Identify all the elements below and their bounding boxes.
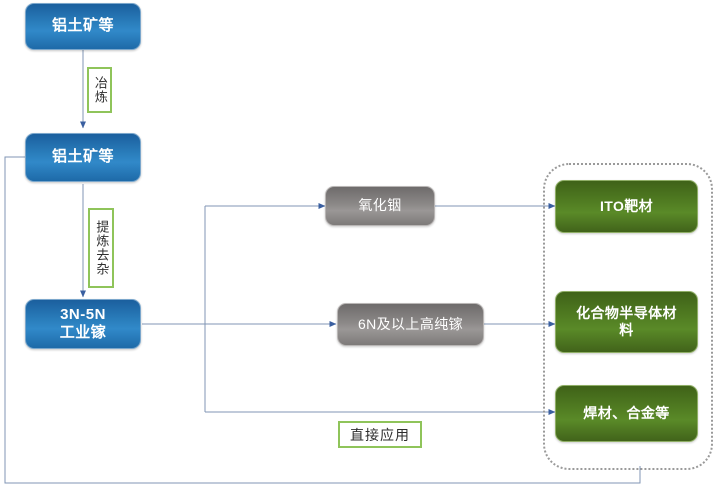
node-indium-oxide-label: 氧化铟 [358, 197, 401, 214]
edge-label-smelting: 冶炼 [87, 67, 112, 113]
node-industrial-gallium-line2: 工业镓 [60, 324, 107, 342]
node-raw-ore-top-label: 铝土矿等 [52, 17, 114, 35]
edge-label-refining: 提炼去杂 [88, 208, 114, 288]
edge-label-direct-application: 直接应用 [338, 421, 422, 448]
node-compound-semiconductor-label: 化合物半导体材料 [570, 305, 683, 339]
edge-label-direct-application-text: 直接应用 [350, 425, 410, 445]
node-compound-semiconductor[interactable]: 化合物半导体材料 [555, 291, 698, 353]
node-solder-alloy[interactable]: 焊材、合金等 [555, 385, 698, 442]
node-ito-target[interactable]: ITO靶材 [555, 180, 698, 233]
edge-label-refining-text: 提炼去杂 [93, 220, 110, 276]
node-ito-target-label: ITO靶材 [600, 198, 653, 215]
flowchart-canvas: 铝土矿等 铝土矿等 3N-5N 工业镓 氧化铟 6N及以上高纯镓 ITO靶材 化… [0, 0, 715, 487]
node-solder-alloy-label: 焊材、合金等 [583, 405, 669, 422]
node-raw-ore-second-label: 铝土矿等 [52, 148, 114, 166]
node-raw-ore-top[interactable]: 铝土矿等 [25, 3, 141, 50]
node-indium-oxide[interactable]: 氧化铟 [325, 186, 435, 226]
node-industrial-gallium[interactable]: 3N-5N 工业镓 [25, 299, 141, 349]
node-industrial-gallium-line1: 3N-5N [60, 306, 106, 324]
node-raw-ore-second[interactable]: 铝土矿等 [25, 133, 141, 182]
node-high-purity-gallium-label: 6N及以上高纯镓 [358, 316, 463, 333]
node-high-purity-gallium[interactable]: 6N及以上高纯镓 [337, 303, 484, 346]
edge-label-smelting-text: 冶炼 [91, 76, 108, 104]
